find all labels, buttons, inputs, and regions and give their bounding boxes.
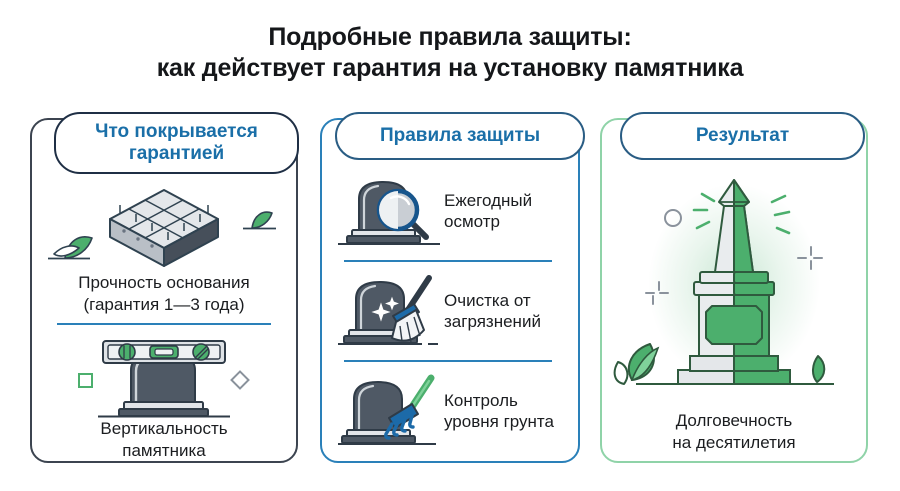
infographic-page: Подробные правила защиты: как действует … — [0, 0, 900, 491]
rules-item-3-label: Контроль уровня грунта — [444, 390, 554, 432]
card-result-header-label: Результат — [696, 125, 789, 147]
leaf-right — [813, 356, 824, 382]
leaf-left-icon — [48, 237, 92, 259]
leaf-right-icon — [243, 212, 276, 228]
card-rules-header-label: Правила защиты — [380, 125, 540, 147]
coverage-item-2-label-line1: Вертикальность — [32, 418, 296, 440]
rake-ground-level-icon — [336, 372, 444, 450]
rules-item-1-label-line2: осмотр — [444, 211, 532, 232]
concrete-foundation-slab-icon — [32, 182, 296, 268]
card-coverage: Что покрывается гарантией — [30, 118, 298, 463]
ground-level-illustration — [336, 372, 444, 450]
coverage-item-2-label: Вертикальность памятника — [32, 418, 296, 462]
rules-item-1-label: Ежегодный осмотр — [444, 190, 532, 232]
card-result: Результат — [600, 118, 868, 463]
pedestal-panel — [706, 306, 762, 344]
rules-item-1-label-line1: Ежегодный — [444, 190, 532, 211]
rules-item-2-label-line2: загрязнений — [444, 311, 541, 332]
coverage-item-2-label-line2: памятника — [32, 440, 296, 462]
verticality-illustration — [32, 338, 296, 420]
result-item-label-line2: на десятилетия — [602, 432, 866, 454]
foundation-slab-illustration — [32, 182, 296, 268]
green-obelisk-monument-icon — [602, 172, 866, 402]
result-item-label-line1: Долговечность — [602, 410, 866, 432]
deco-diamond-icon — [232, 372, 249, 389]
coverage-item-1-label: Прочность основания (гарантия 1—3 года) — [32, 272, 296, 316]
rules-item-2-label: Очистка от загрязнений — [444, 290, 541, 332]
broom-cleaning-icon — [336, 272, 444, 350]
card-coverage-header-pill: Что покрывается гарантией — [54, 112, 299, 174]
coverage-separator — [57, 323, 271, 325]
rules-item-1: Ежегодный осмотр — [336, 172, 568, 250]
inspection-illustration — [336, 172, 444, 250]
rules-separator-1 — [344, 260, 552, 262]
card-result-header-pill: Результат — [620, 112, 865, 160]
magnifier-inspection-icon — [336, 172, 444, 250]
cleaning-illustration — [336, 272, 444, 350]
level-side-vial-right — [193, 344, 209, 360]
result-illustration — [602, 172, 866, 402]
card-rules-header-pill: Правила защиты — [335, 112, 585, 160]
card-coverage-header-label: Что покрывается гарантией — [56, 121, 297, 165]
rules-item-2-label-line1: Очистка от — [444, 290, 541, 311]
spirit-level-on-headstone-icon — [32, 338, 296, 420]
cards-row: Что покрывается гарантией — [0, 118, 900, 466]
leaf-cluster-left — [615, 344, 658, 384]
page-title: Подробные правила защиты: как действует … — [0, 22, 900, 84]
level-side-vial-left — [119, 344, 135, 360]
rules-item-3-label-line1: Контроль — [444, 390, 554, 411]
deco-square-icon — [79, 374, 92, 387]
page-title-line2: как действует гарантия на установку памя… — [0, 53, 900, 84]
rules-item-2: Очистка от загрязнений — [336, 272, 568, 350]
rules-item-3-label-line2: уровня грунта — [444, 411, 554, 432]
rules-separator-2 — [344, 360, 552, 362]
rules-item-3: Контроль уровня грунта — [336, 372, 568, 450]
card-protection-rules: Правила защиты — [320, 118, 580, 463]
coverage-item-1-label-line1: Прочность основания — [32, 272, 296, 294]
coverage-item-1-label-line2: (гарантия 1—3 года) — [32, 294, 296, 316]
page-title-line1: Подробные правила защиты: — [268, 23, 631, 51]
result-item-label: Долговечность на десятилетия — [602, 410, 866, 454]
